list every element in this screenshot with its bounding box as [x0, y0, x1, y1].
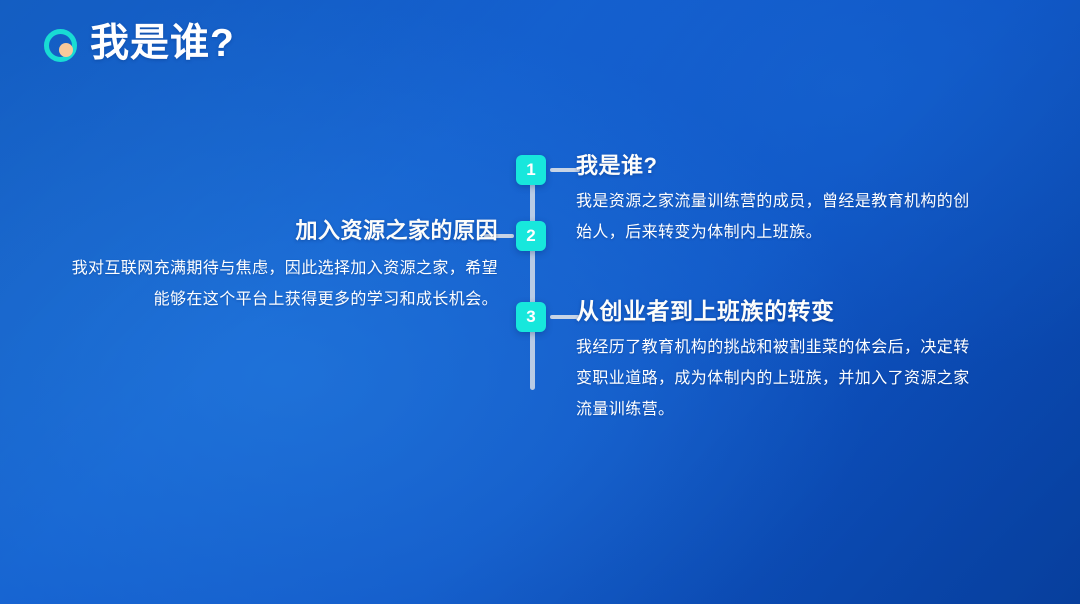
brand-logo: [42, 27, 76, 61]
timeline-badge-2[interactable]: 2: [516, 221, 546, 251]
section-3-heading: 从创业者到上班族的转变: [576, 297, 976, 326]
section-2-body: 我对互联网充满期待与焦虑，因此选择加入资源之家，希望能够在这个平台上获得更多的学…: [68, 253, 498, 315]
slide-header: 我是谁?: [42, 24, 235, 63]
section-2-heading: 加入资源之家的原因: [68, 217, 498, 245]
section-3-body: 我经历了教育机构的挑战和被割韭菜的体会后，决定转变职业道路，成为体制内的上班族，…: [576, 332, 976, 426]
timeline-spine: 1 2 3: [516, 150, 548, 380]
timeline-badge-3[interactable]: 3: [516, 302, 546, 332]
section-block-1: 我是谁? 我是资源之家流量训练营的成员，曾经是教育机构的创始人，后来转变为体制内…: [576, 152, 976, 248]
page-title: 我是谁?: [90, 24, 235, 63]
timeline-vertical-line: [530, 164, 535, 390]
section-block-3: 从创业者到上班族的转变 我经历了教育机构的挑战和被割韭菜的体会后，决定转变职业道…: [576, 297, 976, 425]
logo-dot-icon: [59, 43, 73, 57]
slide-canvas: 我是谁? 1 2 3 我是谁? 我是资源之家流量训练营的成员，曾经是教育机构的创…: [0, 0, 1080, 604]
section-block-2: 加入资源之家的原因 我对互联网充满期待与焦虑，因此选择加入资源之家，希望能够在这…: [68, 217, 498, 315]
section-1-body: 我是资源之家流量训练营的成员，曾经是教育机构的创始人，后来转变为体制内上班族。: [576, 186, 976, 248]
section-1-heading: 我是谁?: [576, 152, 976, 180]
timeline-badge-1[interactable]: 1: [516, 155, 546, 185]
